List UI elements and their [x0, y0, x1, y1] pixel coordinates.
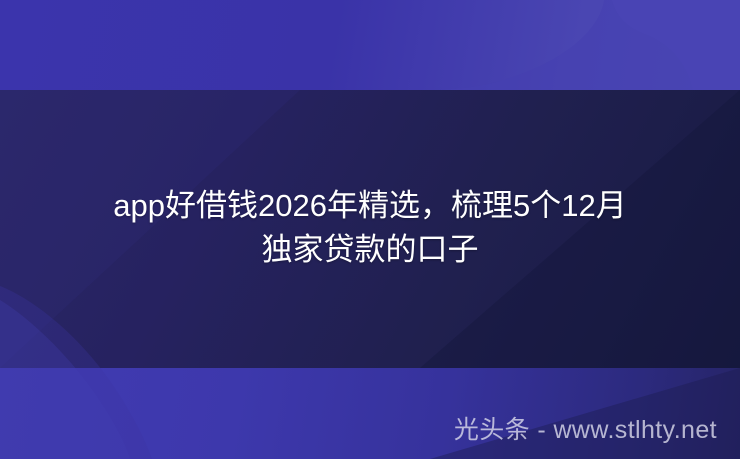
promo-banner: app好借钱2026年精选，梳理5个12月 独家贷款的口子 光头条 - www.… [0, 0, 740, 459]
site-watermark: 光头条 - www.stlhty.net [454, 415, 717, 445]
background-band-bottom [0, 368, 740, 459]
background-band-top [0, 0, 740, 90]
banner-title: app好借钱2026年精选，梳理5个12月 独家贷款的口子 [0, 184, 740, 272]
